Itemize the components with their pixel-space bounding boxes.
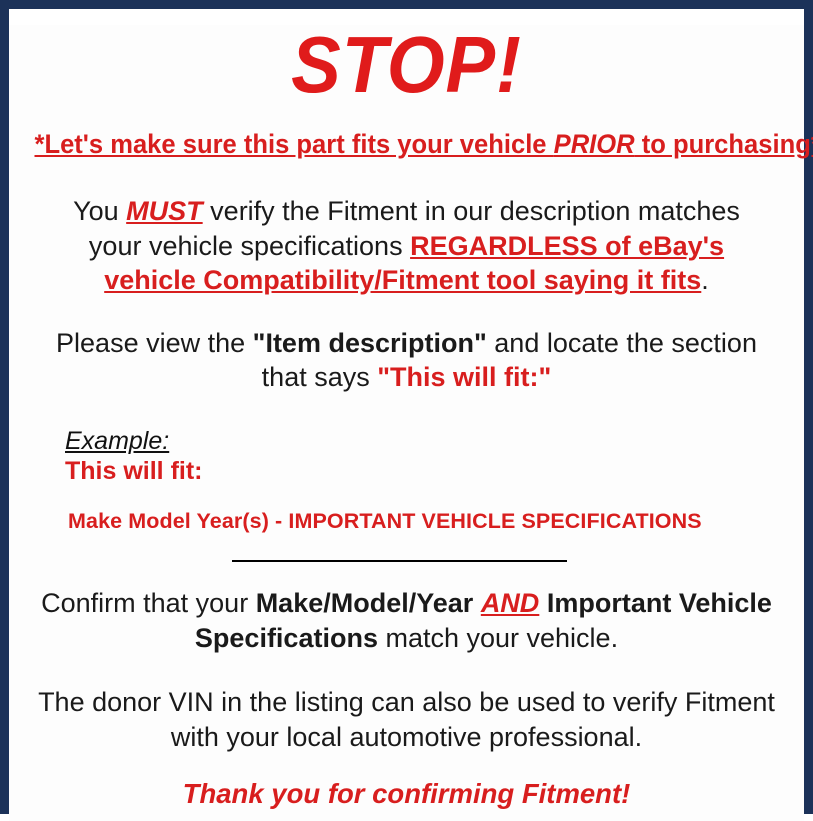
item-description-label: "Item description" xyxy=(253,328,487,358)
subtitle-text-after: to purchasing* xyxy=(635,129,813,159)
must-verify-paragraph: You MUST verify the Fitment in our descr… xyxy=(57,194,756,298)
please-view-paragraph: Please view the "Item description" and l… xyxy=(39,326,774,395)
example-block: Example: This will fit: Make Model Year(… xyxy=(21,427,792,534)
thank-you-line: Thank you for confirming Fitment! xyxy=(21,778,792,810)
must-emphasis: MUST xyxy=(126,196,203,226)
please-text-part1: Please view the xyxy=(56,328,253,358)
make-model-year-label: Make/Model/Year xyxy=(256,588,474,618)
must-text-part3: . xyxy=(701,265,709,295)
example-will-fit-heading: This will fit: xyxy=(65,456,792,487)
confirm-text-part1: Confirm that your xyxy=(41,588,256,618)
donor-vin-paragraph: The donor VIN in the listing can also be… xyxy=(37,685,776,754)
divider-wrapper xyxy=(21,560,792,564)
example-label: Example: xyxy=(65,427,792,455)
and-emphasis: AND xyxy=(481,588,540,618)
example-spec-line: Make Model Year(s) - IMPORTANT VEHICLE S… xyxy=(65,509,792,534)
subtitle-text-before: *Let's make sure this part fits your veh… xyxy=(34,129,553,159)
section-divider xyxy=(232,560,567,562)
must-text-part1: You xyxy=(73,196,126,226)
confirm-space-1 xyxy=(473,588,481,618)
confirm-space-2 xyxy=(539,588,547,618)
notice-content-area: STOP! *Let's make sure this part fits yo… xyxy=(9,25,804,821)
this-will-fit-quote: "This will fit:" xyxy=(377,362,551,392)
confirm-text-part4: match your vehicle. xyxy=(378,623,618,653)
subtitle-banner: *Let's make sure this part fits your veh… xyxy=(34,129,778,160)
fitment-notice-card: STOP! *Let's make sure this part fits yo… xyxy=(0,0,813,814)
confirm-paragraph: Confirm that your Make/Model/Year AND Im… xyxy=(35,586,778,655)
stop-headline: STOP! xyxy=(48,25,765,105)
subtitle-emphasis-prior: PRIOR xyxy=(554,129,635,159)
